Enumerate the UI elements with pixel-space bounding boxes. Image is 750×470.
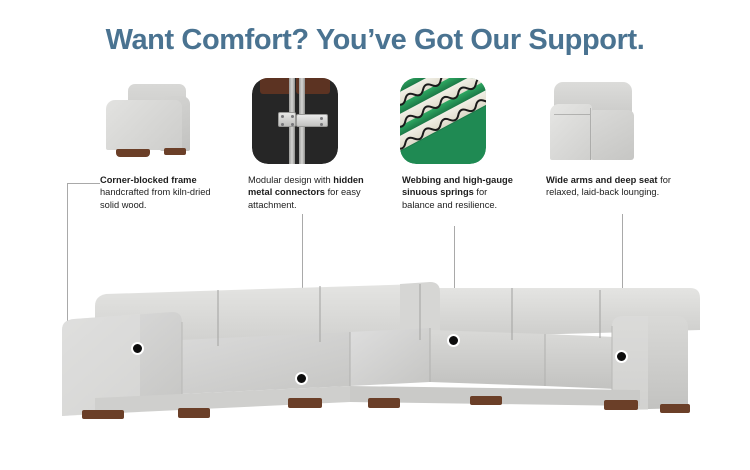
feature-caption-wide-arms-deep-seat: Wide arms and deep seat for relaxed, lai…: [546, 174, 686, 199]
callout-dot-corner-blocked-frame[interactable]: [131, 342, 144, 355]
feature-caption-bold: Webbing and high-gauge sinuous springs: [402, 175, 513, 197]
leader-line-1-top: [67, 183, 100, 184]
callout-dot-wide-arms-deep-seat[interactable]: [615, 350, 628, 363]
green-webbing-springs-icon: [400, 78, 486, 164]
feature-thumbnail-webbing-sinuous-springs[interactable]: [400, 78, 486, 164]
sofa-corner-frame-icon: [104, 78, 196, 164]
feature-thumbnail-wide-arms-deep-seat[interactable]: [546, 78, 638, 164]
infographic-canvas: Want Comfort? You’ve Got Our Support.: [0, 0, 750, 470]
feature-caption-hidden-metal-connectors: Modular design with hidden metal connect…: [248, 174, 368, 211]
product-sectional-sofa-image: [0, 258, 750, 448]
page-title: Want Comfort? You’ve Got Our Support.: [0, 24, 750, 57]
sofa-arm-corner-icon: [546, 78, 638, 164]
callout-dot-webbing-sinuous-springs[interactable]: [447, 334, 460, 347]
feature-thumbnail-hidden-metal-connectors[interactable]: [252, 78, 338, 164]
feature-caption-lead: Modular design with: [248, 175, 333, 185]
callout-dot-hidden-metal-connectors[interactable]: [295, 372, 308, 385]
feature-caption-webbing-sinuous-springs: Webbing and high-gauge sinuous springs f…: [402, 174, 518, 211]
feature-caption-rest: handcrafted from kiln-dried solid wood.: [100, 187, 211, 209]
metal-connector-hardware-icon: [252, 78, 338, 164]
feature-caption-corner-blocked-frame: Corner-blocked frame handcrafted from ki…: [100, 174, 220, 211]
feature-caption-bold: Wide arms and deep seat: [546, 175, 658, 185]
feature-thumbnail-corner-blocked-frame[interactable]: [104, 78, 196, 164]
feature-caption-bold: Corner-blocked frame: [100, 175, 197, 185]
